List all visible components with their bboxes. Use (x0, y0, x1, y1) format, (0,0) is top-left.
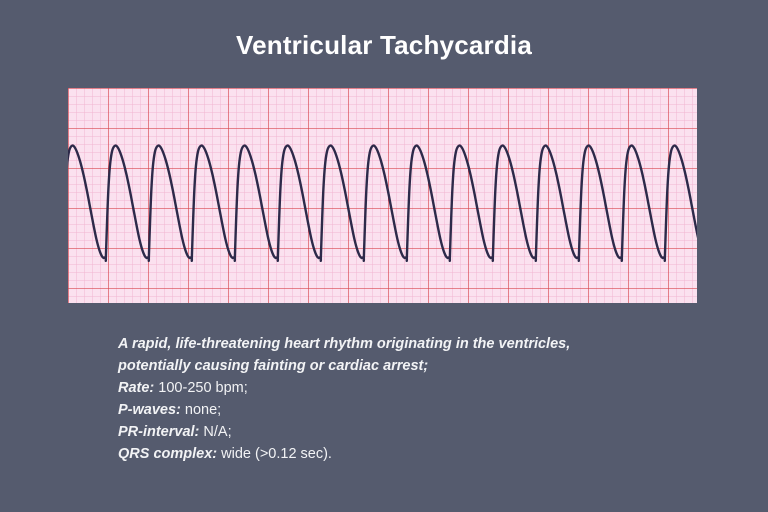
description-line-p-waves: P-waves: none; (118, 399, 718, 421)
qrs-complex-value: wide (>0.12 sec). (217, 446, 332, 462)
rate-label: Rate: (118, 380, 154, 396)
description-line: potentially causing fainting or cardiac … (118, 355, 718, 377)
rate-value: 100-250 bpm; (154, 380, 248, 396)
description-line-qrs-complex: QRS complex: wide (>0.12 sec). (118, 443, 718, 465)
p-waves-value: none; (181, 402, 221, 418)
p-waves-label: P-waves: (118, 402, 181, 418)
description-block: A rapid, life-threatening heart rhythm o… (118, 333, 718, 465)
pr-interval-value: N/A; (199, 424, 231, 440)
ecg-waveform-chart (68, 88, 697, 303)
page-title: Ventricular Tachycardia (0, 30, 768, 61)
ecg-rhythm-strip (68, 88, 697, 303)
description-line: A rapid, life-threatening heart rhythm o… (118, 333, 718, 355)
qrs-complex-label: QRS complex: (118, 446, 217, 462)
pr-interval-label: PR-interval: (118, 424, 199, 440)
description-line-pr-interval: PR-interval: N/A; (118, 421, 718, 443)
description-emphasis: A rapid, life-threatening heart rhythm o… (118, 336, 570, 352)
description-emphasis: potentially causing fainting or cardiac … (118, 358, 428, 374)
description-line-rate: Rate: 100-250 bpm; (118, 377, 718, 399)
